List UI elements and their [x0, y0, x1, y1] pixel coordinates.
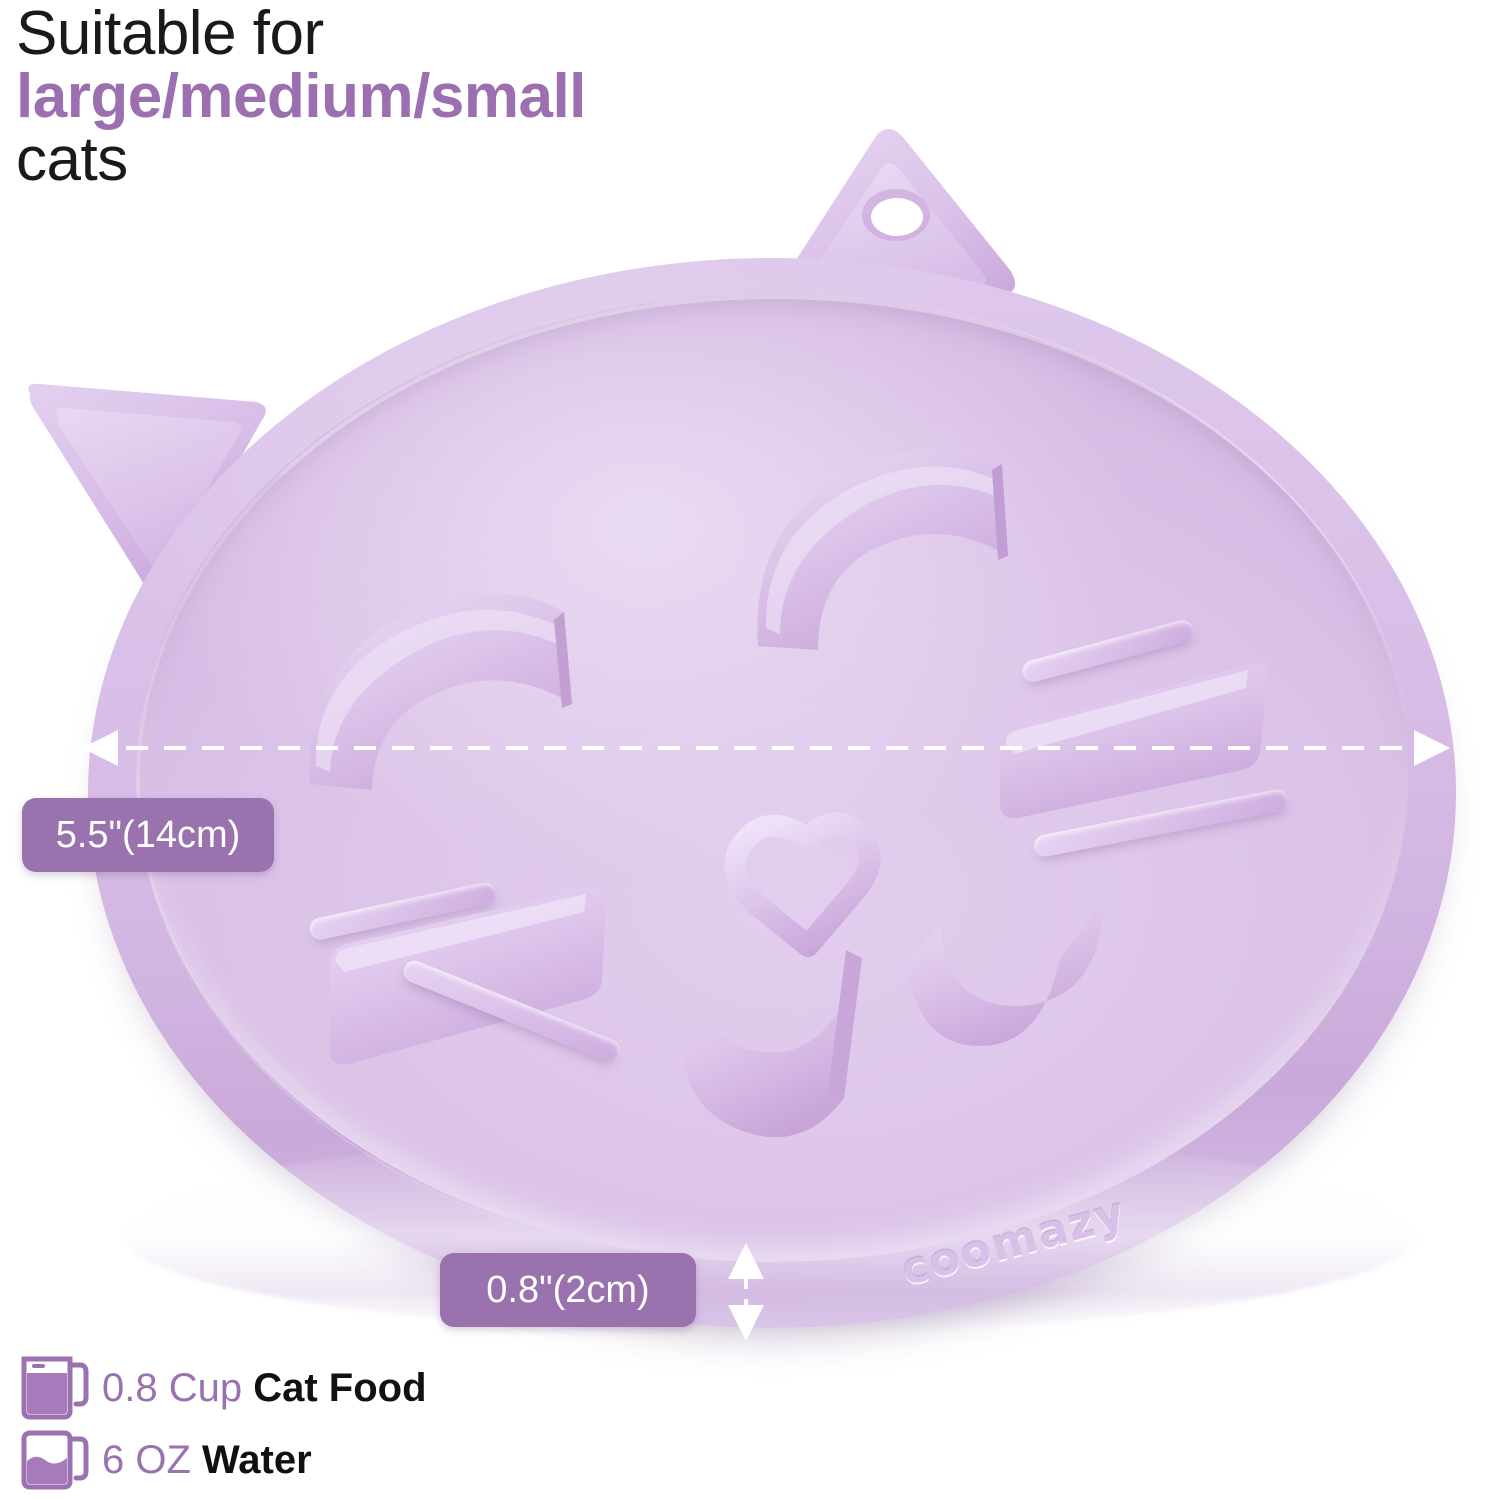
width-badge: 5.5"(14cm) [22, 798, 274, 872]
measuring-cup-icon [18, 1355, 92, 1421]
legend-amount-food: 0.8 Cup [102, 1366, 242, 1410]
height-badge: 0.8"(2cm) [440, 1253, 696, 1327]
width-arrow-right [1414, 730, 1450, 766]
width-dimension-line [88, 746, 1452, 750]
legend-text-food: 0.8 Cup Cat Food [102, 1366, 427, 1411]
legend-label-water: Water [202, 1438, 312, 1482]
legend-item-water: 6 OZ Water [18, 1424, 578, 1496]
legend-amount-water: 6 OZ [102, 1438, 191, 1482]
capacity-legend: 0.8 Cup Cat Food 6 OZ Water [18, 1352, 578, 1496]
eye-arc-right [740, 440, 1040, 652]
legend-label-food: Cat Food [253, 1366, 426, 1410]
legend-item-food: 0.8 Cup Cat Food [18, 1352, 578, 1424]
height-arrow-down [728, 1305, 764, 1341]
height-arrow-up [728, 1243, 764, 1279]
heart-nose-and-mouth [648, 808, 1148, 1158]
eye-arc-left [286, 576, 616, 792]
product-image: coomazy 5.5"(14cm) 0.8"(2cm) [0, 0, 1489, 1500]
legend-text-water: 6 OZ Water [102, 1438, 312, 1483]
measuring-pitcher-icon [18, 1427, 92, 1493]
